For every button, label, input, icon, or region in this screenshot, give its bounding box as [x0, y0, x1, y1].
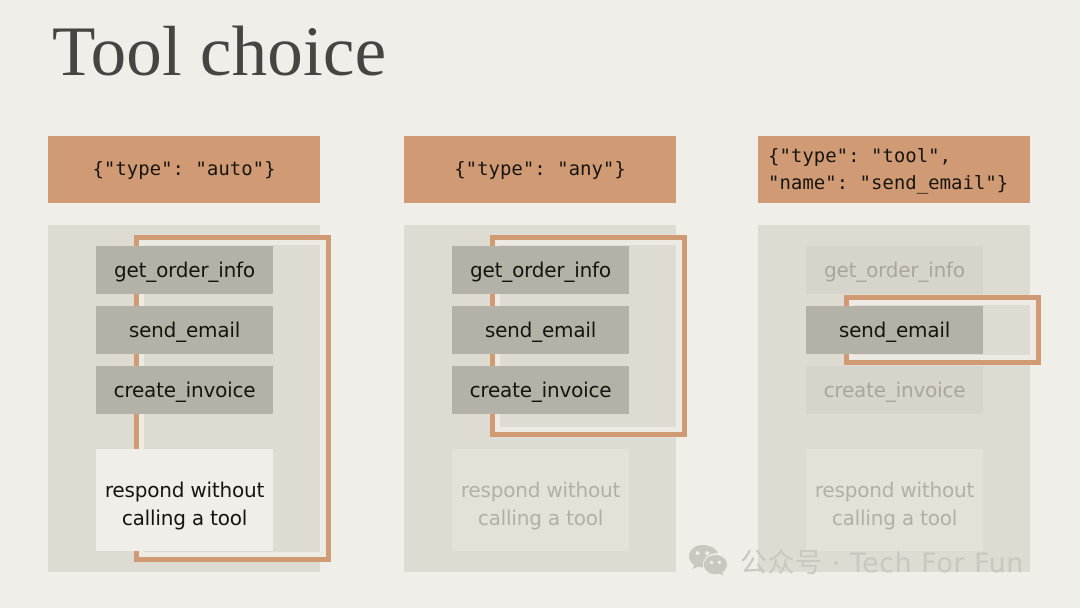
respond-line-1: respond without [806, 477, 983, 505]
respond-line-1: respond without [96, 477, 273, 505]
tool-panel-auto: get_order_info send_email create_invoice… [48, 225, 320, 572]
tool-item-respond-without-tool[interactable]: respond without calling a tool [96, 449, 273, 551]
respond-line-2: calling a tool [806, 505, 983, 533]
column-header-auto: {"type": "auto"} [48, 136, 320, 203]
respond-line-1: respond without [452, 477, 629, 505]
tool-item-send-email[interactable]: send_email [806, 306, 983, 354]
tool-panel-any: get_order_info send_email create_invoice… [404, 225, 676, 572]
column-header-line: {"type": "auto"} [92, 156, 275, 183]
column-header-line: {"type": "any"} [454, 156, 626, 183]
tool-item-get-order-info[interactable]: get_order_info [452, 246, 629, 294]
tool-item-create-invoice[interactable]: create_invoice [452, 366, 629, 414]
column-header-any: {"type": "any"} [404, 136, 676, 203]
column-auto: {"type": "auto"} get_order_info send_ema… [48, 136, 320, 203]
tool-item-respond-without-tool[interactable]: respond without calling a tool [806, 449, 983, 551]
column-header-line-2: "name": "send_email"} [768, 170, 1008, 197]
tool-item-get-order-info[interactable]: get_order_info [96, 246, 273, 294]
column-tool: {"type": "tool", "name": "send_email"} g… [758, 136, 1030, 203]
tool-item-send-email[interactable]: send_email [452, 306, 629, 354]
slide-canvas: Tool choice {"type": "auto"} get_order_i… [0, 0, 1080, 608]
column-header-line-1: {"type": "tool", [768, 143, 951, 170]
column-any: {"type": "any"} get_order_info send_emai… [404, 136, 676, 203]
column-header-tool: {"type": "tool", "name": "send_email"} [758, 136, 1030, 203]
tool-item-create-invoice[interactable]: create_invoice [96, 366, 273, 414]
tool-choice-columns: {"type": "auto"} get_order_info send_ema… [0, 0, 1080, 608]
respond-line-2: calling a tool [96, 505, 273, 533]
tool-item-create-invoice[interactable]: create_invoice [806, 366, 983, 414]
tool-item-get-order-info[interactable]: get_order_info [806, 246, 983, 294]
tool-panel-tool: get_order_info send_email create_invoice… [758, 225, 1030, 572]
tool-item-respond-without-tool[interactable]: respond without calling a tool [452, 449, 629, 551]
respond-line-2: calling a tool [452, 505, 629, 533]
tool-item-send-email[interactable]: send_email [96, 306, 273, 354]
